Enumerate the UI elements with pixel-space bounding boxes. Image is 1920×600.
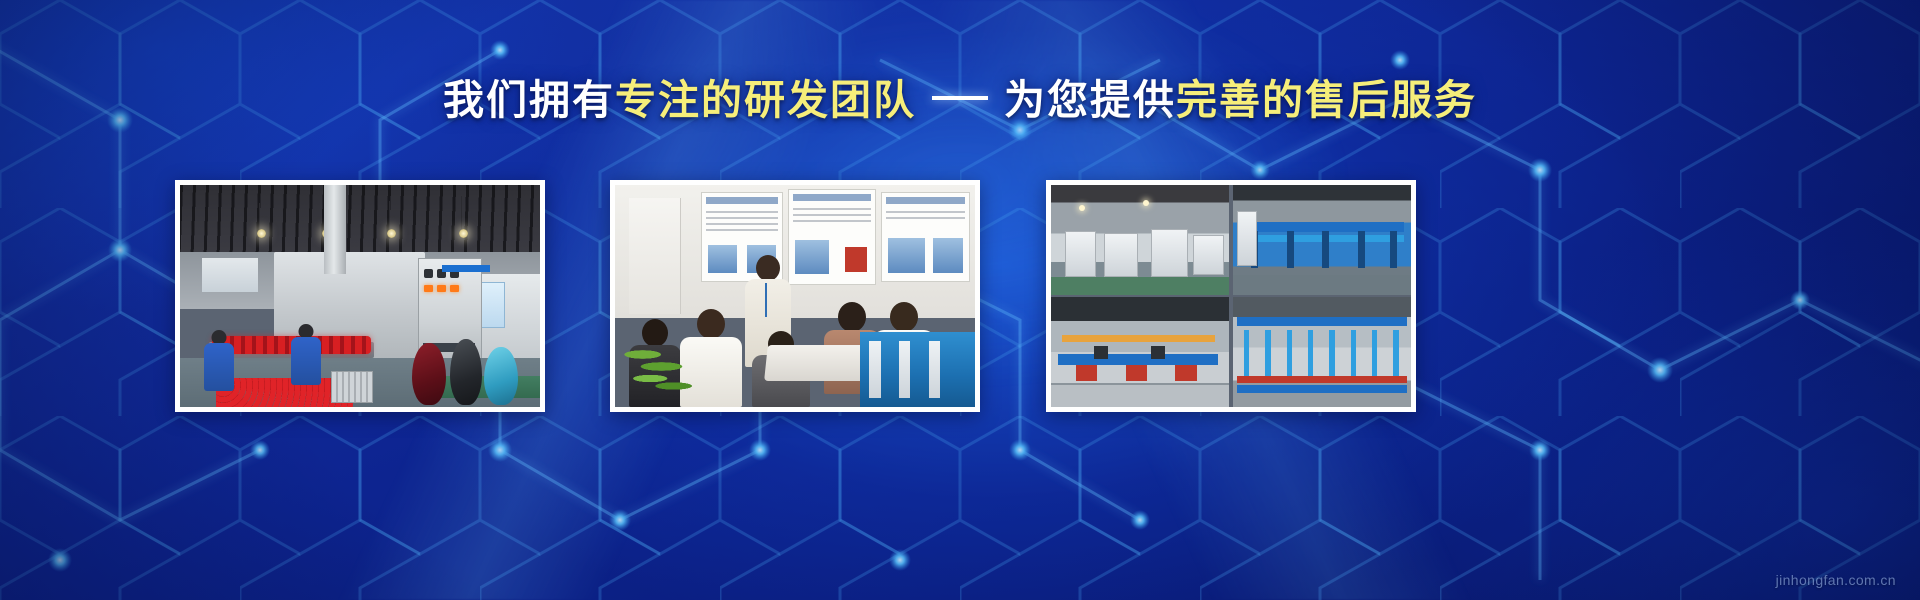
collage-quadrant-blue-line-right: [1233, 185, 1411, 295]
poster-header: [886, 197, 964, 204]
technical-poster: [788, 189, 876, 284]
ceiling-trusses: [180, 185, 540, 260]
door: [629, 198, 680, 313]
equipment-cabinet: [1065, 231, 1095, 277]
worker-uniform: [204, 343, 234, 391]
equipment-brochure-image: [860, 332, 975, 407]
lanyard: [765, 283, 767, 317]
person-head: [756, 255, 780, 281]
headline-segment-1: 我们拥有: [443, 77, 615, 123]
photo-team-meeting: [615, 185, 975, 407]
site-watermark: jinhongfan.com.cn: [1776, 572, 1896, 588]
lamp-stem: [259, 203, 260, 230]
equipment-cabinet: [899, 341, 911, 398]
photo-frame-team-meeting[interactable]: [610, 180, 980, 412]
photo-equipment-collage: [1051, 185, 1411, 407]
worker-uniform: [291, 337, 321, 385]
worker: [202, 330, 236, 394]
headline-segment-2: 专注的研发团队: [615, 77, 916, 123]
window: [202, 258, 258, 292]
ceiling-lamp: [459, 229, 468, 238]
panel-indicator-lights: [424, 285, 459, 292]
headline-dash-divider: [932, 96, 988, 100]
equipment-cabinet: [1151, 229, 1189, 277]
lamp-stem: [389, 201, 390, 230]
overhead-rail: [1237, 317, 1408, 326]
poster-header: [793, 194, 871, 201]
person-head: [890, 302, 918, 332]
ceiling-lamp: [387, 229, 396, 238]
banner-headline: 我们拥有专注的研发团队为您提供完善的售后服务: [0, 80, 1920, 121]
person-head: [838, 302, 866, 332]
equipment-cabinet: [929, 341, 941, 398]
plastic-crate: [331, 371, 373, 403]
collage-quadrant-hanging-line: [1233, 297, 1411, 407]
lamp-stem: [461, 196, 462, 229]
photo-factory-production-line: [180, 185, 540, 407]
poster-header: [706, 197, 777, 204]
overhead-crane-beam: [1062, 335, 1215, 343]
equipment-cabinet: [1104, 233, 1138, 277]
equipment-cabinet: [1237, 211, 1257, 266]
exhaust-stack: [324, 185, 346, 274]
promo-banner: 我们拥有专注的研发团队为您提供完善的售后服务: [0, 0, 1920, 600]
technical-poster: [881, 192, 969, 283]
conveyor-rail: [1058, 354, 1218, 365]
collage-quadrant-workshop-left: [1051, 185, 1229, 295]
equipment-cabinet: [1193, 235, 1223, 274]
worker: [288, 324, 324, 394]
photo-gallery-row: [0, 180, 1920, 415]
photo-frame-factory-production-line[interactable]: [175, 180, 545, 412]
collage-quadrant-assembly-line: [1051, 297, 1229, 407]
equipment-cabinet: [869, 341, 881, 398]
potted-palm: [622, 332, 716, 407]
photo-frame-equipment-collage[interactable]: [1046, 180, 1416, 412]
headline-segment-3: 为您提供: [1004, 77, 1176, 123]
blue-brand-strip: [442, 265, 490, 272]
headline-segment-4: 完善的售后服务: [1176, 77, 1477, 123]
